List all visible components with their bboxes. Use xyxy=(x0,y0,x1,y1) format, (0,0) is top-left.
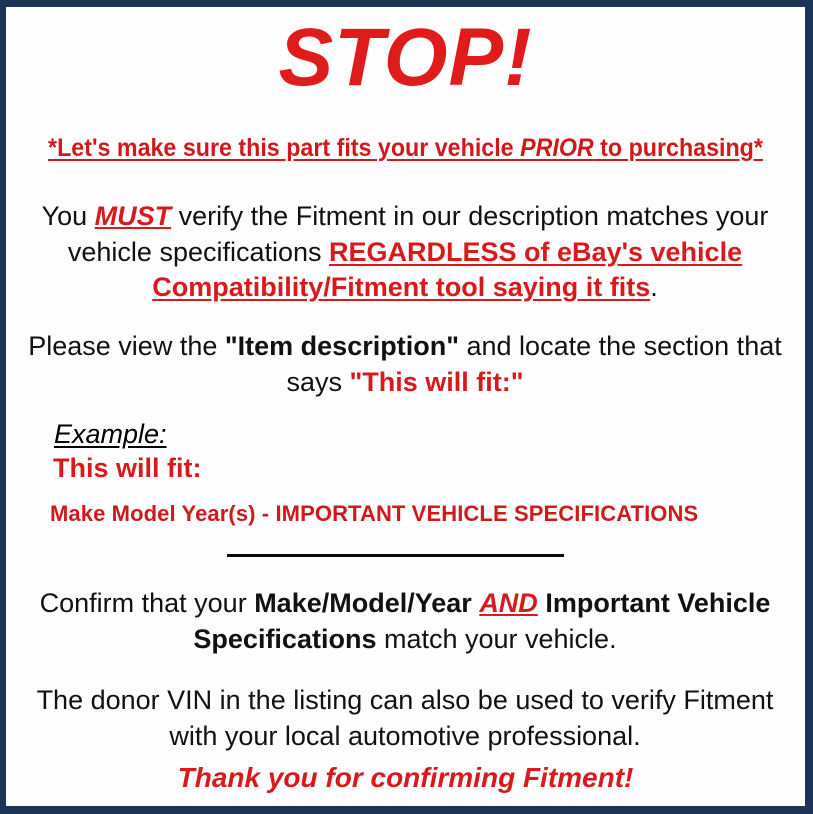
example-fit-header: This will fit: xyxy=(53,453,202,484)
thank-you-message: Thank you for confirming Fitment! xyxy=(6,762,805,794)
example-spec-line: Make Model Year(s) - IMPORTANT VEHICLE S… xyxy=(50,501,698,527)
tagline-emphasis-prior: PRIOR xyxy=(520,134,594,162)
this-will-fit-emphasis: "This will fit:" xyxy=(349,367,523,397)
must-verify-paragraph: You MUST verify the Fitment in our descr… xyxy=(20,199,790,306)
tagline: *Let's make sure this part fits your veh… xyxy=(34,133,777,164)
example-label: Example: xyxy=(54,419,167,450)
section-divider xyxy=(227,554,564,557)
item-description-paragraph: Please view the "Item description" and l… xyxy=(20,329,790,400)
notice-inner-panel: STOP! *Let's make sure this part fits yo… xyxy=(6,7,805,806)
and-emphasis: AND xyxy=(479,588,538,618)
confirm-text-1: Confirm that your xyxy=(40,588,255,618)
view-text-1: Please view the xyxy=(28,331,225,361)
stop-headline: STOP! xyxy=(6,15,805,101)
tagline-prefix: *Let's make sure this part fits your veh… xyxy=(48,134,520,162)
confirm-text-2: match your vehicle. xyxy=(376,624,616,654)
must-text-1: You xyxy=(42,201,95,231)
must-emphasis: MUST xyxy=(95,201,172,231)
confirm-paragraph: Confirm that your Make/Model/Year AND Im… xyxy=(20,586,790,657)
item-description-emphasis: "Item description" xyxy=(225,331,459,361)
make-model-year-emphasis: Make/Model/Year xyxy=(254,588,472,618)
fitment-notice-graphic: STOP! *Let's make sure this part fits yo… xyxy=(0,0,813,814)
tagline-suffix: to purchasing* xyxy=(594,134,763,162)
must-text-3: . xyxy=(650,272,658,302)
donor-vin-paragraph: The donor VIN in the listing can also be… xyxy=(20,683,790,754)
